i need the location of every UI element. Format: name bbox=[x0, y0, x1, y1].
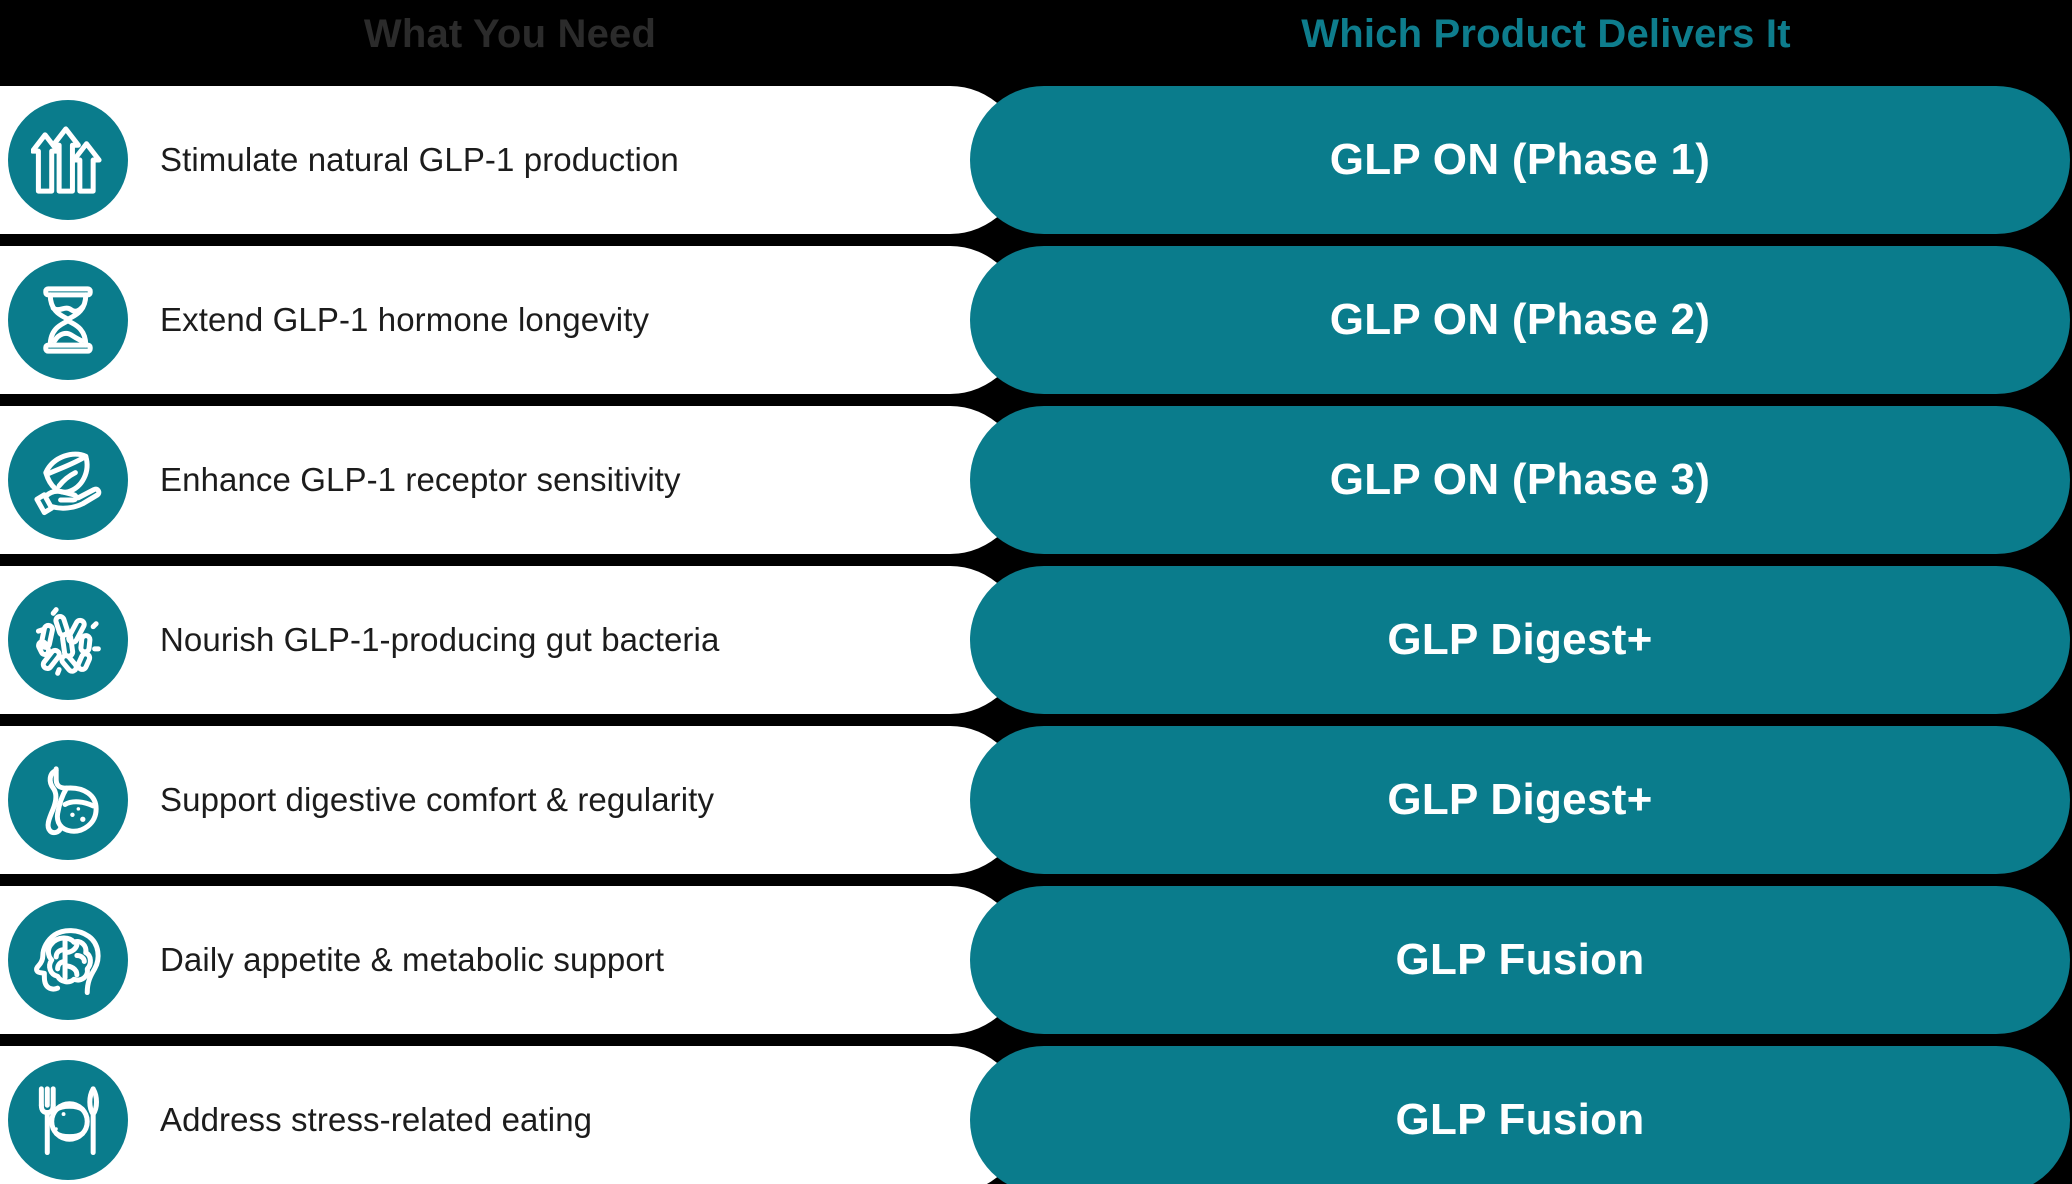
table-header: What You Need Which Product Delivers It bbox=[0, 0, 2072, 72]
product-label: GLP ON (Phase 1) bbox=[1330, 135, 1711, 185]
product-pill[interactable]: GLP ON (Phase 2) bbox=[970, 246, 2070, 394]
product-pill[interactable]: GLP Fusion bbox=[970, 1046, 2070, 1184]
product-pill[interactable]: GLP ON (Phase 1) bbox=[970, 86, 2070, 234]
product-pill[interactable]: GLP Digest+ bbox=[970, 726, 2070, 874]
product-label: GLP ON (Phase 3) bbox=[1330, 455, 1711, 505]
need-label: Address stress-related eating bbox=[160, 1046, 960, 1184]
column-header-what-you-need: What You Need bbox=[0, 0, 1020, 68]
need-label: Daily appetite & metabolic support bbox=[160, 886, 960, 1034]
column-header-which-product-delivers-it: Which Product Delivers It bbox=[1020, 0, 2072, 68]
need-label: Nourish GLP-1-producing gut bacteria bbox=[160, 566, 960, 714]
need-label: Extend GLP-1 hormone longevity bbox=[160, 246, 960, 394]
table-row: Stimulate natural GLP-1 production GLP O… bbox=[0, 86, 2072, 234]
product-pill[interactable]: GLP Digest+ bbox=[970, 566, 2070, 714]
head-brain-icon bbox=[8, 900, 128, 1020]
product-label: GLP Digest+ bbox=[1387, 775, 1652, 825]
plate-cutlery-icon bbox=[8, 1060, 128, 1180]
comparison-table: What You Need Which Product Delivers It … bbox=[0, 0, 2072, 1184]
product-label: GLP Fusion bbox=[1395, 1095, 1644, 1145]
table-row: Support digestive comfort & regularity G… bbox=[0, 726, 2072, 874]
need-label: Enhance GLP-1 receptor sensitivity bbox=[160, 406, 960, 554]
hand-feather-icon bbox=[8, 420, 128, 540]
product-pill[interactable]: GLP ON (Phase 3) bbox=[970, 406, 2070, 554]
product-label: GLP Fusion bbox=[1395, 935, 1644, 985]
hourglass-icon bbox=[8, 260, 128, 380]
need-label: Stimulate natural GLP-1 production bbox=[160, 86, 960, 234]
growth-arrows-icon bbox=[8, 100, 128, 220]
product-label: GLP Digest+ bbox=[1387, 615, 1652, 665]
table-row: Nourish GLP-1-producing gut bacteria GLP… bbox=[0, 566, 2072, 714]
table-row: Address stress-related eating GLP Fusion bbox=[0, 1046, 2072, 1184]
table-row: Extend GLP-1 hormone longevity GLP ON (P… bbox=[0, 246, 2072, 394]
table-row: Daily appetite & metabolic support GLP F… bbox=[0, 886, 2072, 1034]
product-label: GLP ON (Phase 2) bbox=[1330, 295, 1711, 345]
table-row: Enhance GLP-1 receptor sensitivity GLP O… bbox=[0, 406, 2072, 554]
stomach-icon bbox=[8, 740, 128, 860]
bacteria-icon bbox=[8, 580, 128, 700]
need-label: Support digestive comfort & regularity bbox=[160, 726, 960, 874]
product-pill[interactable]: GLP Fusion bbox=[970, 886, 2070, 1034]
